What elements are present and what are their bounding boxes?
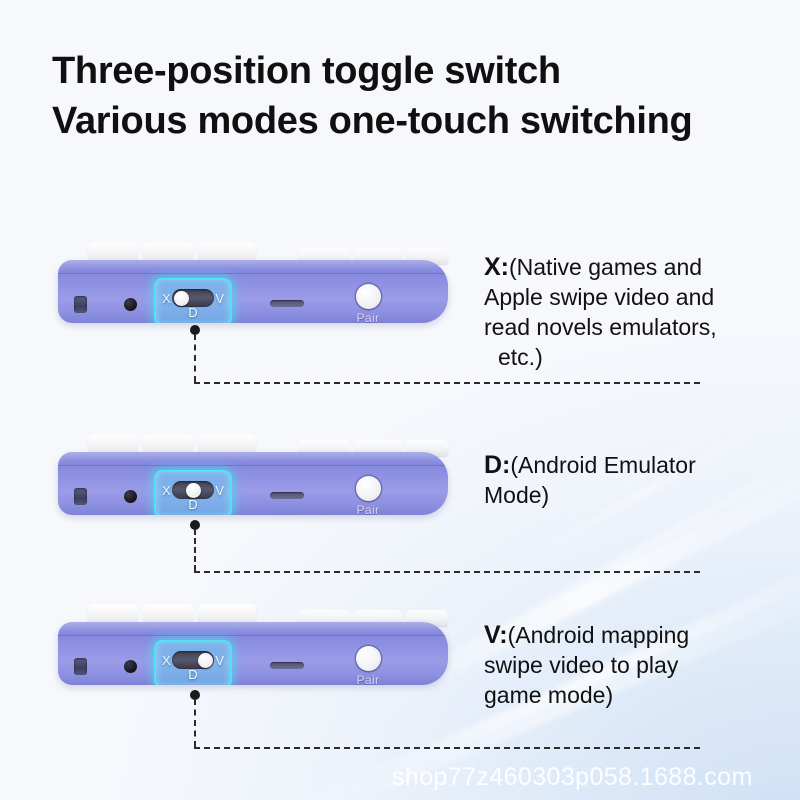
- controller-device: Pair X V D: [58, 600, 448, 685]
- mode-description-d: D:(Android Emulator Mode): [484, 450, 784, 510]
- pair-button-group[interactable]: Pair: [338, 646, 398, 685]
- mode-description-x: X:(Native games and Apple swipe video an…: [484, 252, 784, 372]
- microphone-hole-icon: [124, 660, 137, 673]
- title-line-1: Three-position toggle switch: [52, 46, 772, 96]
- title-line-2: Various modes one-touch switching: [52, 96, 772, 146]
- toggle-label-d: D: [156, 306, 230, 319]
- usb-port-icon: [74, 488, 87, 505]
- body-gloss: [58, 260, 448, 272]
- device-body: Pair X V D: [58, 622, 448, 685]
- connector-vertical-line: [194, 529, 196, 571]
- pair-button-group[interactable]: Pair: [338, 476, 398, 515]
- connector-vertical-line: [194, 334, 196, 382]
- mode-line-text: Apple swipe video and: [484, 282, 784, 312]
- pair-button-label: Pair: [338, 673, 398, 685]
- toggle-label-d: D: [156, 498, 230, 511]
- mode-description-line: D:(Android Emulator: [484, 450, 784, 480]
- toggle-switch-highlight[interactable]: X V D: [154, 278, 232, 323]
- mode-key-d: D:: [484, 451, 510, 479]
- body-gloss: [58, 452, 448, 464]
- usb-port-icon: [74, 658, 87, 675]
- controller-device: Pair X V D: [58, 430, 448, 515]
- vent-slot: [270, 662, 304, 669]
- pair-button-label: Pair: [338, 311, 398, 323]
- controller-device: Pair X V D: [58, 238, 448, 323]
- mode-line-text: read novels emulators,: [484, 312, 784, 342]
- connector-horizontal-line: [194, 571, 700, 573]
- toggle-switch-knob[interactable]: [198, 653, 213, 668]
- pair-button[interactable]: [356, 646, 381, 671]
- usb-port-icon: [74, 296, 87, 313]
- toggle-switch-highlight[interactable]: X V D: [154, 640, 232, 685]
- connector-horizontal-line: [194, 382, 700, 384]
- mode-description-line: V:(Android mapping: [484, 620, 784, 650]
- mode-key-v: V:: [484, 621, 508, 649]
- microphone-hole-icon: [124, 490, 137, 503]
- mode-description-v: V:(Android mapping swipe video to play g…: [484, 620, 784, 710]
- mode-key-x: X:: [484, 253, 509, 281]
- body-gloss: [58, 622, 448, 634]
- pair-button-group[interactable]: Pair: [338, 284, 398, 323]
- vent-slot: [270, 492, 304, 499]
- page-title: Three-position toggle switch Various mod…: [52, 46, 772, 146]
- toggle-label-v: V: [215, 484, 224, 497]
- connector-vertical-line: [194, 699, 196, 747]
- mode-line-text: (Native games and: [509, 254, 702, 280]
- mode-line-text: swipe video to play: [484, 650, 784, 680]
- toggle-switch-knob[interactable]: [174, 291, 189, 306]
- toggle-label-d: D: [156, 668, 230, 681]
- vent-slot: [270, 300, 304, 307]
- device-body: Pair X V D: [58, 260, 448, 323]
- microphone-hole-icon: [124, 298, 137, 311]
- mode-line-text: etc.): [484, 342, 784, 372]
- toggle-label-x: X: [162, 484, 171, 497]
- toggle-switch-highlight[interactable]: X V D: [154, 470, 232, 515]
- toggle-label-x: X: [162, 292, 171, 305]
- mode-line-text: Mode): [484, 480, 784, 510]
- connector-horizontal-line: [194, 747, 700, 749]
- watermark: shop77z460303p058.1688.com: [392, 763, 753, 792]
- mode-line-text: game mode): [484, 680, 784, 710]
- pair-button-label: Pair: [338, 503, 398, 515]
- toggle-label-v: V: [215, 292, 224, 305]
- pair-button[interactable]: [356, 476, 381, 501]
- toggle-label-x: X: [162, 654, 171, 667]
- mode-line-text: (Android Emulator: [510, 452, 695, 478]
- pair-button[interactable]: [356, 284, 381, 309]
- device-body: Pair X V D: [58, 452, 448, 515]
- mode-line-text: (Android mapping: [508, 622, 690, 648]
- toggle-switch-knob[interactable]: [186, 483, 201, 498]
- toggle-label-v: V: [215, 654, 224, 667]
- mode-description-line: X:(Native games and: [484, 252, 784, 282]
